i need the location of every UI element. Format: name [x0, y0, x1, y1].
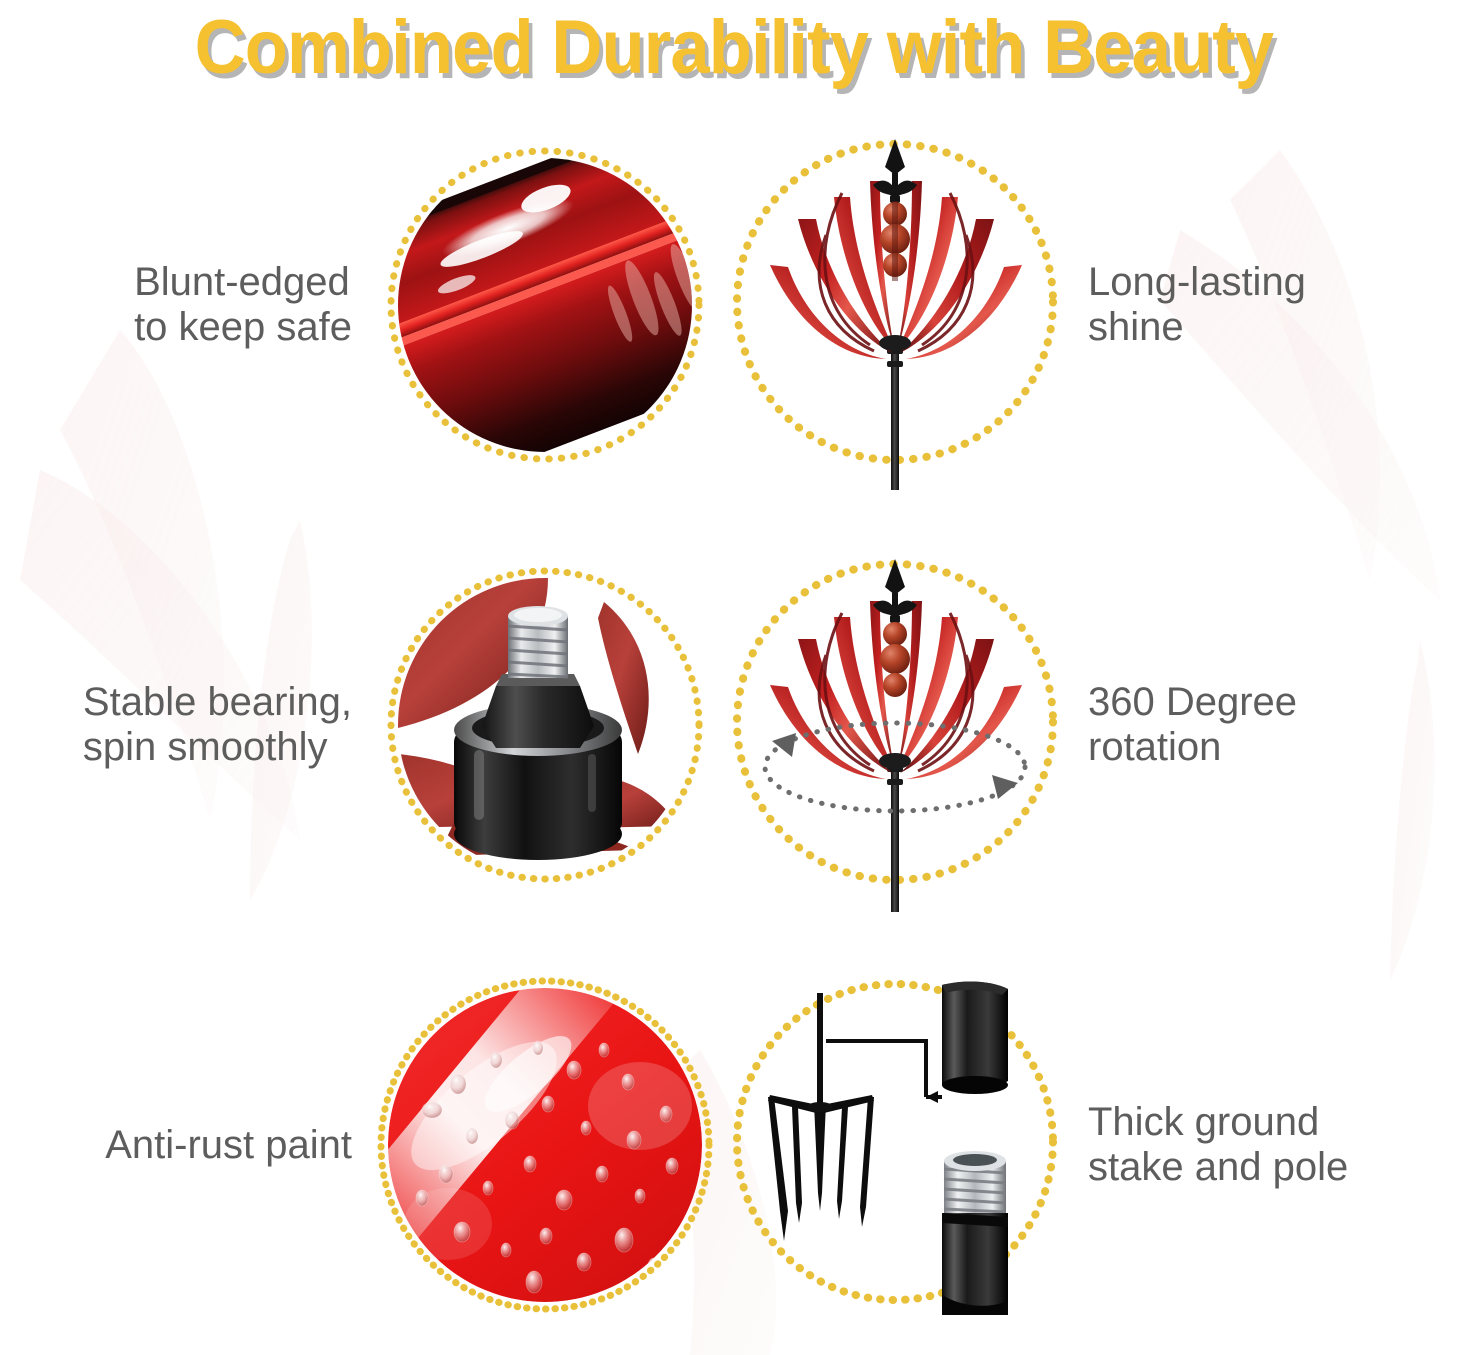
feature-label-anti-rust-paint: Anti-rust paint [105, 1123, 352, 1168]
feature-label-thick-stake-and-pole: Thick ground stake and pole [1088, 1100, 1348, 1190]
ground-stake-and-pole-diagram [730, 955, 1060, 1335]
water-beading-photo-clip [388, 988, 702, 1302]
pole-threaded-segment [942, 1151, 1008, 1315]
feature-image-stake-pole-cell [720, 935, 1070, 1355]
stake-and-pole-artwork [730, 955, 1060, 1335]
feature-label-blunt-edged: Blunt-edged to keep safe [134, 260, 352, 350]
page-title-container: Combined Durability with Beauty [0, 0, 1467, 95]
pole-socket-segment [942, 982, 1008, 1094]
callout-line [826, 1041, 926, 1097]
feature-label-anti-rust-cell: Anti-rust paint [0, 935, 370, 1355]
feature-label-360-rotation: 360 Degree rotation [1088, 680, 1297, 770]
wind-spinner-rotation-diagram [730, 535, 1060, 915]
feature-label-stake-pole-cell: Thick ground stake and pole [1070, 935, 1467, 1355]
water-beading-paint-photo [380, 980, 710, 1310]
feature-image-rotation-diagram-cell [720, 515, 1070, 935]
bearing-closeup-photo [390, 570, 700, 880]
features-grid: Blunt-edged to keep safe [0, 95, 1467, 1355]
wind-spinner-artwork [730, 115, 1060, 495]
infographic-page: Combined Durability with Beauty Blunt-ed… [0, 0, 1467, 1355]
feature-image-wind-spinner-cell [720, 95, 1070, 515]
feature-label-stable-bearing: Stable bearing, spin smoothly [83, 680, 352, 770]
feature-image-red-tube-closeup-cell [370, 95, 720, 515]
red-tube-closeup-photo [390, 150, 700, 460]
feature-label-blunt-edged-cell: Blunt-edged to keep safe [0, 95, 370, 515]
bearing-photo-clip [398, 578, 692, 872]
feature-label-360-rotation-cell: 360 Degree rotation [1070, 515, 1467, 935]
wind-spinner-photo [730, 115, 1060, 495]
ground-stake-icon [768, 993, 874, 1241]
feature-row-3: Anti-rust paint [0, 935, 1467, 1355]
wind-spinner-artwork [730, 535, 1060, 915]
feature-row-1: Blunt-edged to keep safe [0, 95, 1467, 515]
feature-image-water-beading-cell [370, 935, 720, 1355]
feature-row-2: Stable bearing, spin smoothly [0, 515, 1467, 935]
feature-label-long-lasting-shine-cell: Long-lasting shine [1070, 95, 1467, 515]
feature-image-bearing-closeup-cell [370, 515, 720, 935]
red-tube-photo-clip [398, 158, 692, 452]
feature-label-stable-bearing-cell: Stable bearing, spin smoothly [0, 515, 370, 935]
page-title: Combined Durability with Beauty [194, 10, 1273, 86]
feature-label-long-lasting-shine: Long-lasting shine [1088, 260, 1306, 350]
